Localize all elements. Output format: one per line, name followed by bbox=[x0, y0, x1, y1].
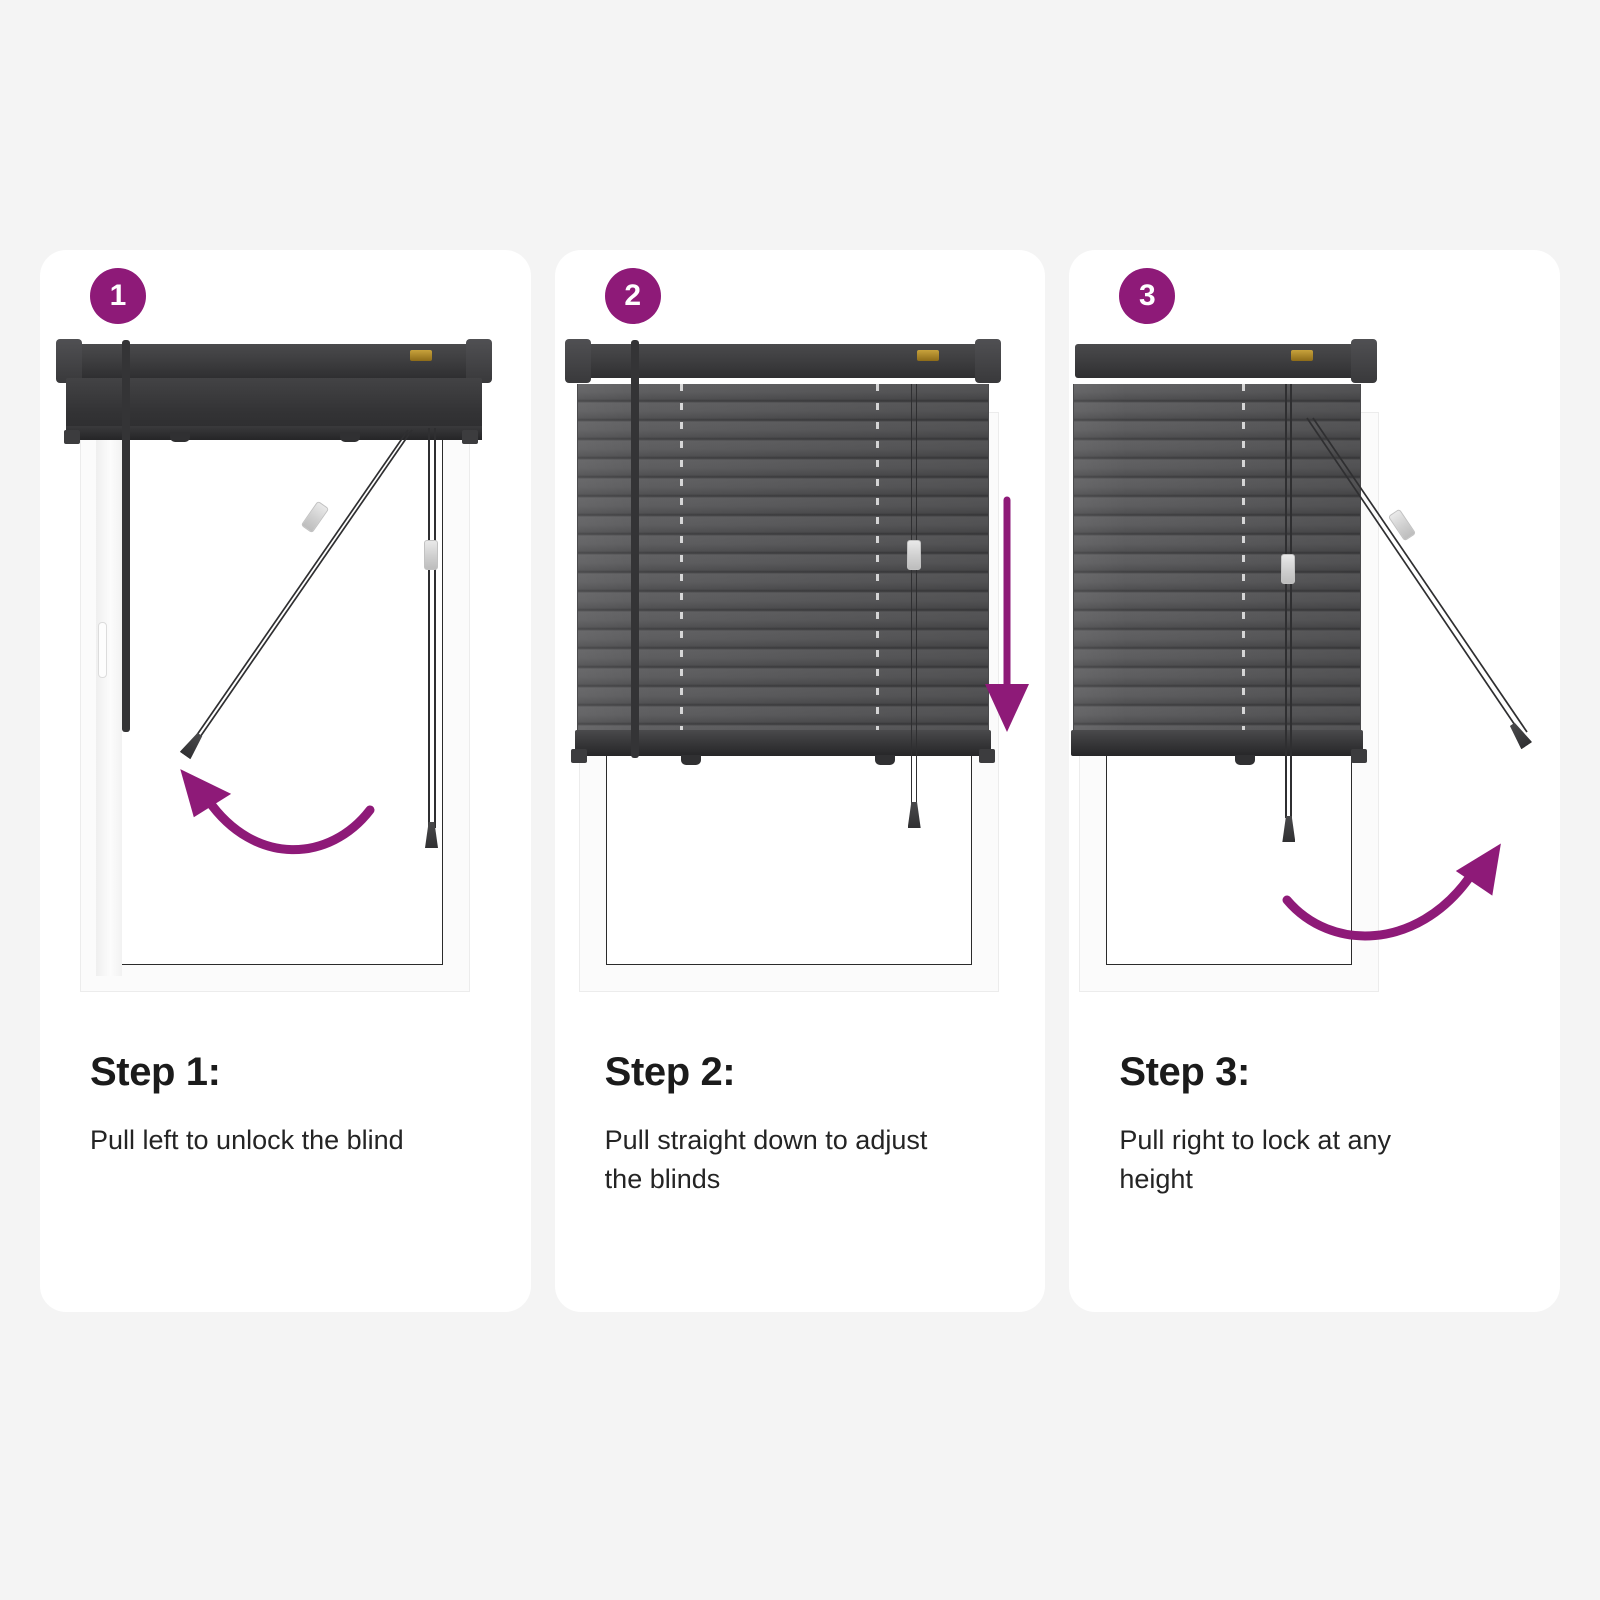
step-badge-2: 2 bbox=[605, 268, 661, 324]
step-3-illustration bbox=[1069, 322, 1560, 1022]
step-card-1[interactable]: 1 bbox=[40, 250, 531, 1312]
ladder-tape bbox=[876, 384, 879, 732]
ladder-tape bbox=[1242, 384, 1245, 732]
step-description: Pull left to unlock the blind bbox=[90, 1121, 420, 1160]
window-frame bbox=[80, 412, 470, 992]
lift-cord-vertical bbox=[1290, 384, 1292, 818]
ladder-tape bbox=[680, 384, 683, 732]
step-title: Step 3: bbox=[1119, 1050, 1520, 1095]
bottom-rail-foot bbox=[170, 432, 190, 442]
lift-cord-vertical bbox=[434, 428, 436, 828]
step-title: Step 2: bbox=[605, 1050, 1006, 1095]
blind-slats bbox=[1073, 384, 1361, 732]
cord-tassel[interactable] bbox=[1507, 721, 1532, 750]
lift-cord-vertical bbox=[1285, 384, 1287, 818]
step-description: Pull right to lock at any height bbox=[1119, 1121, 1449, 1199]
bottom-rail-endcap bbox=[571, 749, 587, 763]
tilt-wand[interactable] bbox=[122, 340, 130, 732]
bottom-rail bbox=[1071, 730, 1363, 756]
headrail-endcap-right bbox=[975, 339, 1001, 383]
step-title: Step 1: bbox=[90, 1050, 491, 1095]
headrail-endcap-left bbox=[565, 339, 591, 383]
window-handle[interactable] bbox=[98, 622, 107, 678]
bottom-rail-foot bbox=[340, 432, 360, 442]
cord-connector bbox=[1281, 554, 1295, 584]
headrail-endcap-left bbox=[56, 339, 82, 383]
headrail-endcap-right bbox=[466, 339, 492, 383]
step-card-3[interactable]: 3 bbox=[1069, 250, 1560, 1312]
tilt-wand[interactable] bbox=[631, 340, 639, 758]
steps-row: 1 bbox=[40, 250, 1560, 1312]
bottom-rail-foot bbox=[875, 755, 895, 765]
bottom-rail-foot bbox=[681, 755, 701, 765]
cord-connector bbox=[1388, 509, 1416, 542]
step-1-illustration bbox=[40, 322, 531, 1022]
bottom-rail-endcap bbox=[64, 430, 80, 444]
cord-connector bbox=[907, 540, 921, 570]
slat-sheen bbox=[1074, 384, 1360, 732]
tilt-mechanism bbox=[917, 350, 939, 361]
step-description: Pull straight down to adjust the blinds bbox=[605, 1121, 935, 1199]
step-3-text: Step 3: Pull right to lock at any height bbox=[1119, 1050, 1520, 1199]
tilt-mechanism bbox=[1291, 350, 1313, 361]
step-badge-3: 3 bbox=[1119, 268, 1175, 324]
instruction-board: 1 bbox=[0, 0, 1600, 1600]
slat-sheen bbox=[578, 384, 988, 732]
bottom-rail-endcap bbox=[462, 430, 478, 444]
cord-connector bbox=[424, 540, 438, 570]
step-2-text: Step 2: Pull straight down to adjust the… bbox=[605, 1050, 1006, 1199]
step-1-text: Step 1: Pull left to unlock the blind bbox=[90, 1050, 491, 1160]
headrail bbox=[1075, 344, 1369, 378]
step-2-illustration bbox=[555, 322, 1046, 1022]
step-card-2[interactable]: 2 bbox=[555, 250, 1046, 1312]
tilt-mechanism bbox=[410, 350, 432, 361]
bottom-rail-endcap bbox=[1351, 749, 1367, 763]
lift-cord-vertical bbox=[428, 428, 430, 828]
bottom-rail-endcap bbox=[979, 749, 995, 763]
headrail-endcap-right bbox=[1351, 339, 1377, 383]
window-frame-sash bbox=[96, 428, 122, 976]
bottom-rail-foot bbox=[1235, 755, 1255, 765]
step-badge-1: 1 bbox=[90, 268, 146, 324]
lift-cord-vertical bbox=[916, 384, 918, 804]
lift-cord-vertical bbox=[911, 384, 913, 804]
